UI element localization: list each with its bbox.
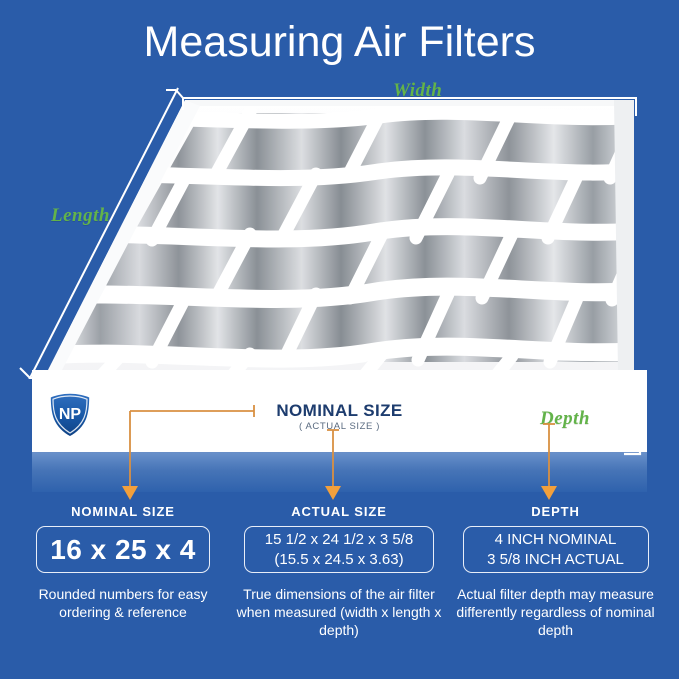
column-value-line: (15.5 x 24.5 x 3.63) — [265, 550, 413, 570]
column-caption: Actual filter depth may measure differen… — [444, 585, 667, 639]
label-length: Length — [51, 205, 110, 227]
column-value-box: 4 INCH NOMINAL 3 5/8 INCH ACTUAL — [463, 526, 649, 573]
infographic-root: Measuring Air Filters — [0, 0, 679, 679]
column-depth: DEPTH 4 INCH NOMINAL 3 5/8 INCH ACTUAL A… — [444, 504, 667, 639]
column-actual-size: ACTUAL SIZE 15 1/2 x 24 1/2 x 3 5/8 (15.… — [234, 504, 444, 639]
column-caption: True dimensions of the air filter when m… — [234, 585, 444, 639]
filter-reflection — [32, 452, 647, 492]
column-heading: ACTUAL SIZE — [234, 504, 444, 519]
label-width: Width — [393, 80, 442, 102]
column-value-box: 16 x 25 x 4 — [36, 526, 210, 573]
column-heading: NOMINAL SIZE — [12, 504, 234, 519]
column-value-line: 4 INCH NOMINAL — [487, 530, 624, 550]
column-value-lines: 15 1/2 x 24 1/2 x 3 5/8 (15.5 x 24.5 x 3… — [265, 530, 413, 570]
callout-actual-size: ( ACTUAL SIZE ) — [0, 421, 679, 432]
dimension-brackets — [0, 86, 679, 386]
callout-nominal-size: NOMINAL SIZE — [0, 401, 679, 421]
summary-columns: NOMINAL SIZE 16 x 25 x 4 Rounded numbers… — [0, 504, 679, 679]
air-filter-illustration — [0, 86, 679, 386]
page-title: Measuring Air Filters — [0, 18, 679, 67]
column-value-box: 15 1/2 x 24 1/2 x 3 5/8 (15.5 x 24.5 x 3… — [244, 526, 434, 573]
column-nominal-size: NOMINAL SIZE 16 x 25 x 4 Rounded numbers… — [12, 504, 234, 621]
column-value-line: 3 5/8 INCH ACTUAL — [487, 550, 624, 570]
column-heading: DEPTH — [444, 504, 667, 519]
column-value-line: 16 x 25 x 4 — [50, 534, 196, 566]
column-value-line: 15 1/2 x 24 1/2 x 3 5/8 — [265, 530, 413, 550]
column-caption: Rounded numbers for easy ordering & refe… — [12, 585, 234, 621]
column-value-lines: 4 INCH NOMINAL 3 5/8 INCH ACTUAL — [487, 530, 624, 570]
